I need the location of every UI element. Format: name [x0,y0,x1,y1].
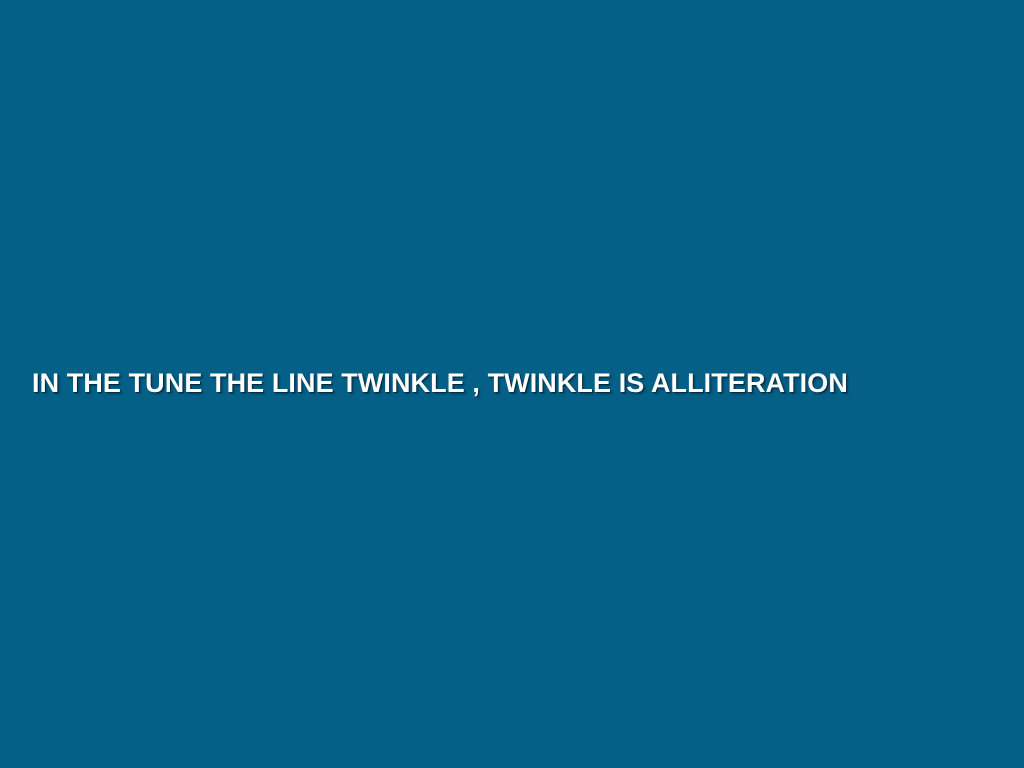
headline-block: IN THE TUNE THE LINE TWINKLE , TWINKLE I… [0,0,1024,768]
slide-headline: IN THE TUNE THE LINE TWINKLE , TWINKLE I… [32,368,994,400]
slide-canvas: IN THE TUNE THE LINE TWINKLE , TWINKLE I… [0,0,1024,768]
